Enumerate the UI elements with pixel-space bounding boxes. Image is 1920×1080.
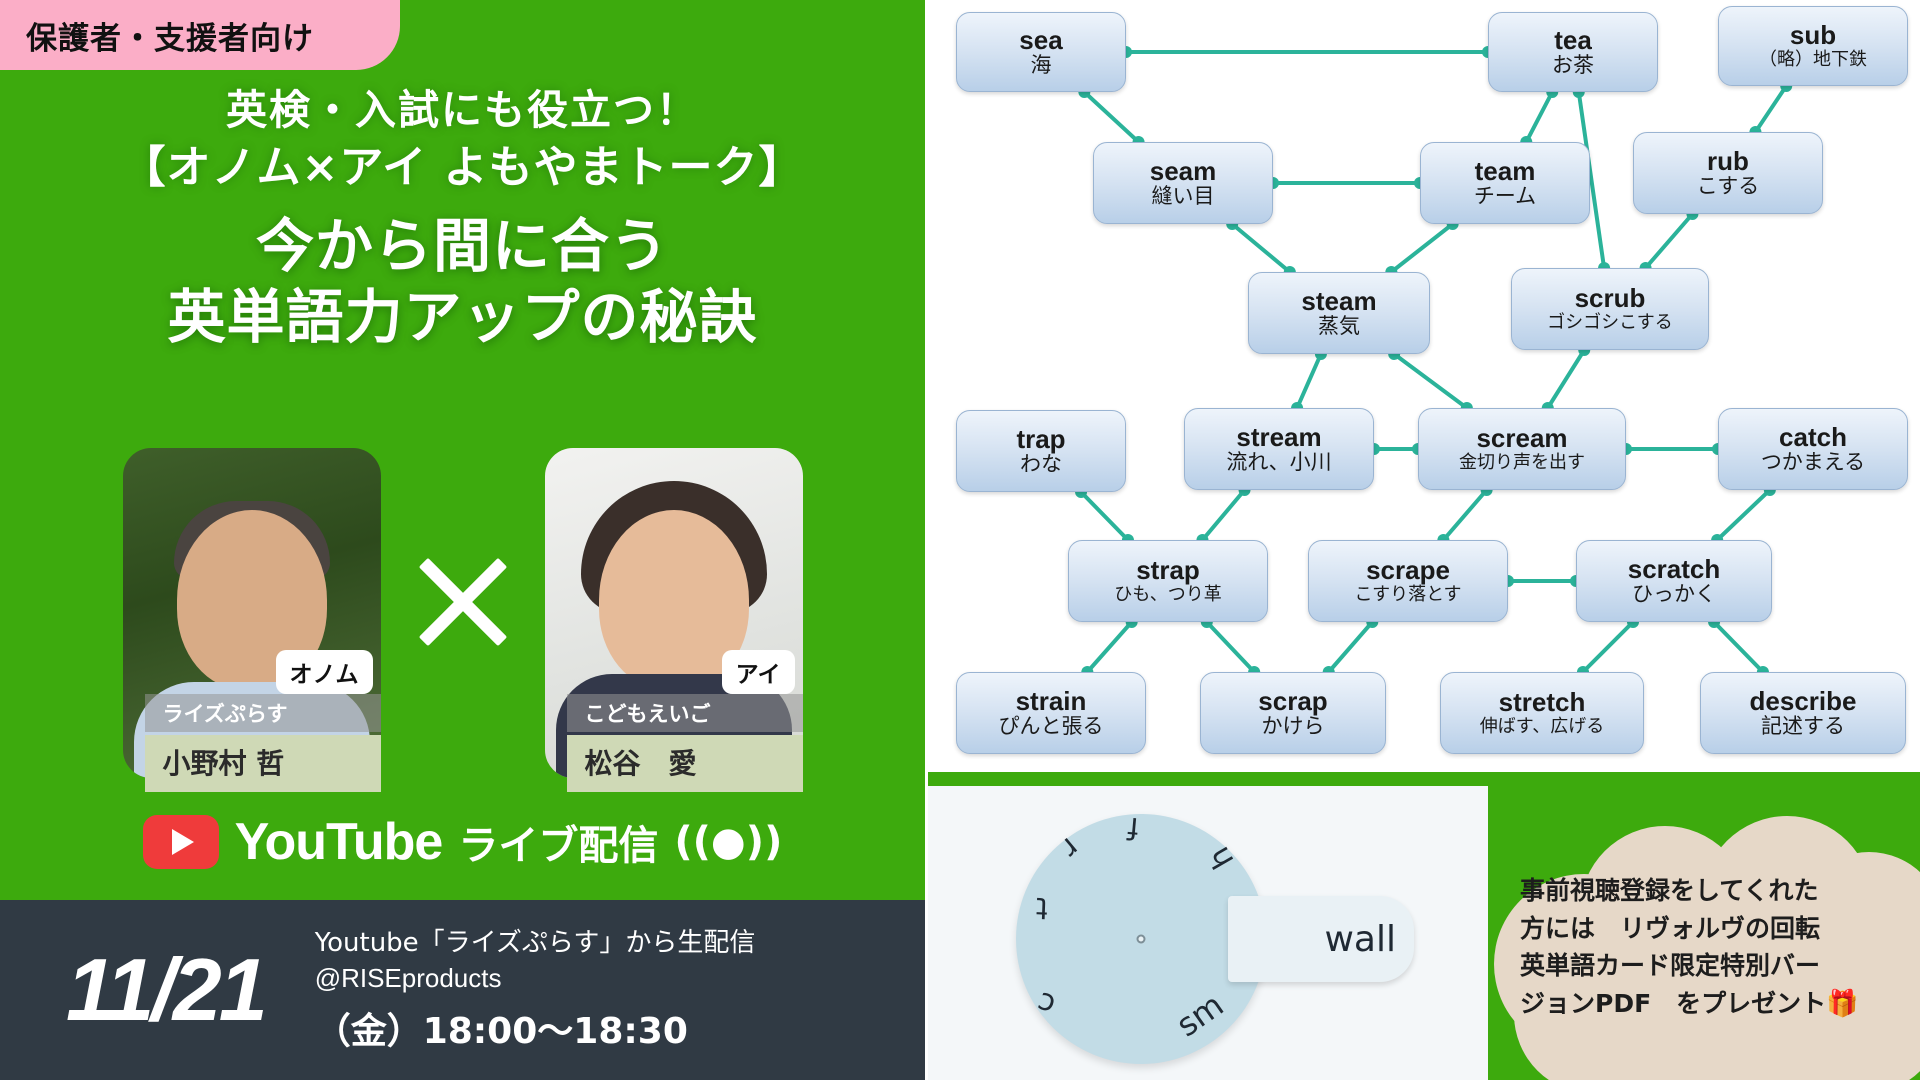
word-node-japanese: お茶: [1552, 54, 1594, 77]
wheel-letter-f: f: [1126, 810, 1140, 846]
word-node-japanese: ゴシゴシこする: [1547, 313, 1673, 333]
gift-icon: 🎁: [1826, 989, 1858, 1019]
wheel-letter-q: t: [1035, 890, 1048, 925]
word-node-rub: rubこする: [1633, 132, 1823, 214]
word-node-team: teamチーム: [1420, 142, 1590, 224]
word-edge: [1548, 350, 1584, 408]
youtube-live-label: ライブ配信: [458, 813, 658, 871]
word-edge: [1526, 92, 1552, 142]
cloud-line-4: ジョンPDF をプレゼント🎁: [1520, 985, 1918, 1024]
word-node-english: sub: [1790, 22, 1836, 50]
speaker-name-1: 小野村 哲: [145, 735, 381, 792]
word-wheel-photo: f h r t c sm wall: [928, 786, 1488, 1080]
wheel-letter-h: h: [1202, 841, 1242, 875]
cloud-line-3: 英単語カード限定特別バー: [1520, 947, 1918, 985]
word-edge: [1207, 622, 1254, 672]
word-edge: [1329, 622, 1373, 672]
speaker-org-2: こどもえいご: [567, 694, 803, 732]
word-node-scratch: scratchひっかく: [1576, 540, 1772, 622]
speaker-org-1: ライズぷらす: [145, 694, 381, 732]
headline-line-1: 英検・入試にも役立つ！: [0, 84, 925, 136]
event-details: Youtube「ライズぷらす」から生配信 @RISEproducts （金）18…: [315, 926, 756, 1054]
word-node-scream: scream金切り声を出す: [1418, 408, 1626, 490]
broadcast-wave-icon: ((●)): [674, 819, 782, 865]
cloud-line-2: 方には リヴォルヴの回転: [1520, 910, 1918, 948]
word-edge: [1714, 622, 1763, 672]
word-node-english: strain: [1016, 688, 1087, 716]
bottom-media-panel: f h r t c sm wall 事前視聴登録をしてくれた 方には リヴォ: [928, 778, 1920, 1080]
word-node-japanese: 伸ばす、広げる: [1480, 717, 1605, 737]
word-node-japanese: こすり落とす: [1354, 585, 1461, 605]
youtube-live-row: YouTube ライブ配信 ((●)): [0, 812, 925, 872]
word-node-english: strap: [1136, 557, 1200, 585]
word-edge: [1391, 224, 1452, 272]
speaker-card-2: アイ こどもえいご 松谷 愛: [545, 448, 803, 778]
speakers-row: オノム ライズぷらす 小野村 哲 アイ こどもえいご 松谷 愛: [0, 448, 925, 803]
word-node-japanese: チーム: [1474, 185, 1536, 208]
word-node-english: scrap: [1258, 688, 1327, 716]
speaker-name-2: 松谷 愛: [567, 735, 803, 792]
word-edge: [1232, 224, 1290, 272]
word-node-sea: sea海: [956, 12, 1126, 92]
word-edge: [1081, 492, 1128, 540]
word-node-stretch: stretch伸ばす、広げる: [1440, 672, 1644, 754]
word-node-japanese: 蒸気: [1318, 315, 1360, 338]
word-edge: [1394, 354, 1467, 408]
event-footer-bar: 11/21 Youtube「ライズぷらす」から生配信 @RISEproducts…: [0, 900, 925, 1080]
event-date: 11/21: [66, 939, 265, 1041]
word-node-japanese: こする: [1697, 175, 1760, 198]
youtube-wordmark: YouTube: [235, 812, 443, 872]
word-node-english: stretch: [1499, 689, 1586, 717]
wheel-letter-r: r: [1054, 830, 1086, 865]
word-node-english: scratch: [1628, 556, 1721, 584]
speaker-role-tag-2: アイ: [722, 650, 795, 694]
wheel-center-hole: [1137, 935, 1146, 944]
word-node-trap: trapわな: [956, 410, 1126, 492]
word-edge: [1755, 86, 1786, 132]
word-node-english: describe: [1750, 688, 1857, 716]
word-node-english: sea: [1019, 27, 1062, 55]
word-node-strap: strapひも、つり革: [1068, 540, 1268, 622]
cloud-line-4-text: ジョンPDF をプレゼント: [1520, 989, 1826, 1018]
word-edge: [1717, 490, 1770, 540]
word-node-english: steam: [1301, 288, 1376, 316]
word-edge: [1583, 622, 1633, 672]
word-node-stream: stream流れ、小川: [1184, 408, 1374, 490]
word-node-japanese: ひっかく: [1632, 583, 1716, 606]
word-node-scrub: scrubゴシゴシこする: [1511, 268, 1709, 350]
cloud-callout-text: 事前視聴登録をしてくれた 方には リヴォルヴの回転 英単語カード限定特別バー ジ…: [1520, 872, 1918, 1024]
word-edge: [1443, 490, 1486, 540]
audience-badge: 保護者・支援者向け: [0, 0, 400, 70]
word-node-strain: strainぴんと張る: [956, 672, 1146, 754]
word-node-japanese: 流れ、小川: [1226, 451, 1331, 474]
word-node-japanese: 縫い目: [1152, 185, 1215, 208]
word-node-english: seam: [1150, 158, 1217, 186]
word-network-diagram: sea海teaお茶sub（略）地下鉄seam縫い目teamチームrubこするst…: [928, 0, 1920, 775]
gift-cloud-callout: 事前視聴登録をしてくれた 方には リヴォルヴの回転 英単語カード限定特別バー ジ…: [1494, 816, 1920, 1080]
word-node-steam: steam蒸気: [1248, 272, 1430, 354]
word-node-scrap: scrapかけら: [1200, 672, 1386, 754]
cloud-line-1: 事前視聴登録をしてくれた: [1520, 872, 1918, 910]
event-channel-line: Youtube「ライズぷらす」から生配信: [315, 926, 756, 961]
word-node-japanese: わな: [1020, 453, 1062, 476]
word-node-japanese: 金切り声を出す: [1459, 453, 1585, 473]
left-promo-panel: 保護者・支援者向け 英検・入試にも役立つ！ 【オノム×アイ よもやまトーク】 今…: [0, 0, 925, 900]
word-node-english: rub: [1707, 148, 1749, 176]
word-node-scrape: scrapeこすり落とす: [1308, 540, 1508, 622]
word-node-japanese: かけら: [1262, 715, 1325, 738]
headline-line-2: 【オノム×アイ よもやまトーク】: [0, 140, 925, 196]
word-network-edges: [928, 0, 1920, 775]
word-node-describe: describe記述する: [1700, 672, 1906, 754]
word-node-japanese: 記述する: [1761, 715, 1845, 738]
speaker-role-tag-1: オノム: [276, 650, 373, 694]
word-node-sub: sub（略）地下鉄: [1718, 6, 1908, 86]
word-node-english: catch: [1779, 424, 1847, 452]
audience-badge-label: 保護者・支援者向け: [26, 13, 314, 58]
word-edge: [1087, 622, 1131, 672]
word-edge: [1646, 214, 1693, 268]
word-node-japanese: ぴんと張る: [999, 715, 1104, 738]
wheel-letter-c: c: [1033, 984, 1060, 1023]
word-node-english: team: [1475, 158, 1536, 186]
word-node-tea: teaお茶: [1488, 12, 1658, 92]
word-node-english: stream: [1236, 424, 1321, 452]
headline-main-line-2: 英単語力アップの秘訣: [0, 282, 925, 353]
word-wheel-strip: wall: [1228, 896, 1414, 982]
word-node-english: trap: [1016, 426, 1065, 454]
word-node-japanese: （略）地下鉄: [1759, 50, 1867, 70]
word-node-english: scrub: [1575, 285, 1646, 313]
word-node-catch: catchつかまえる: [1718, 408, 1908, 490]
poster-root: 保護者・支援者向け 英検・入試にも役立つ！ 【オノム×アイ よもやまトーク】 今…: [0, 0, 1920, 1080]
speaker-card-1: オノム ライズぷらす 小野村 哲: [123, 448, 381, 778]
word-node-english: scrape: [1366, 557, 1450, 585]
word-wheel-word: wall: [1324, 919, 1396, 960]
youtube-play-icon: [143, 815, 219, 869]
word-edge: [1202, 490, 1244, 540]
word-node-japanese: ひも、つり革: [1114, 585, 1221, 605]
event-time: （金）18:00〜18:30: [315, 1002, 756, 1054]
headline-block: 英検・入試にも役立つ！ 【オノム×アイ よもやまトーク】 今から間に合う 英単語…: [0, 84, 925, 352]
headline-main-line-1: 今から間に合う: [0, 211, 925, 282]
word-edge: [1084, 92, 1138, 142]
word-edge: [1297, 354, 1321, 408]
word-node-english: scream: [1476, 425, 1567, 453]
cross-symbol-icon: [409, 448, 517, 778]
word-node-japanese: つかまえる: [1761, 451, 1865, 474]
word-node-japanese: 海: [1031, 54, 1052, 77]
event-handle: @RISEproducts: [315, 961, 756, 996]
word-node-seam: seam縫い目: [1093, 142, 1273, 224]
word-node-english: tea: [1554, 27, 1592, 55]
wheel-letters-sm: sm: [1169, 986, 1230, 1045]
